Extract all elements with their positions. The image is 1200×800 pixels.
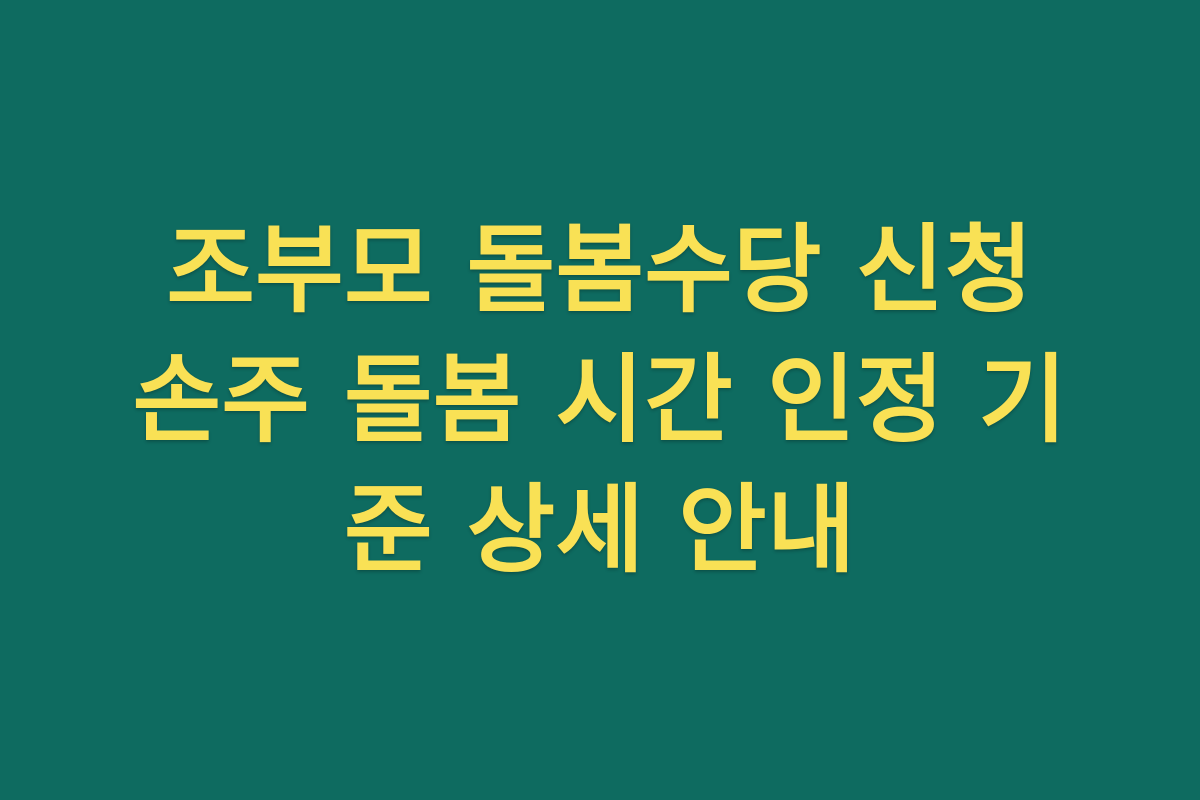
headline-line-1: 조부모 돌봄수당 신청 [60,205,1140,335]
headline-line-2: 손주 돌봄 시간 인정 기 [60,335,1140,465]
headline-line-3: 준 상세 안내 [60,465,1140,595]
banner-canvas: 조부모 돌봄수당 신청 손주 돌봄 시간 인정 기 준 상세 안내 [0,0,1200,800]
headline-block: 조부모 돌봄수당 신청 손주 돌봄 시간 인정 기 준 상세 안내 [0,205,1200,595]
